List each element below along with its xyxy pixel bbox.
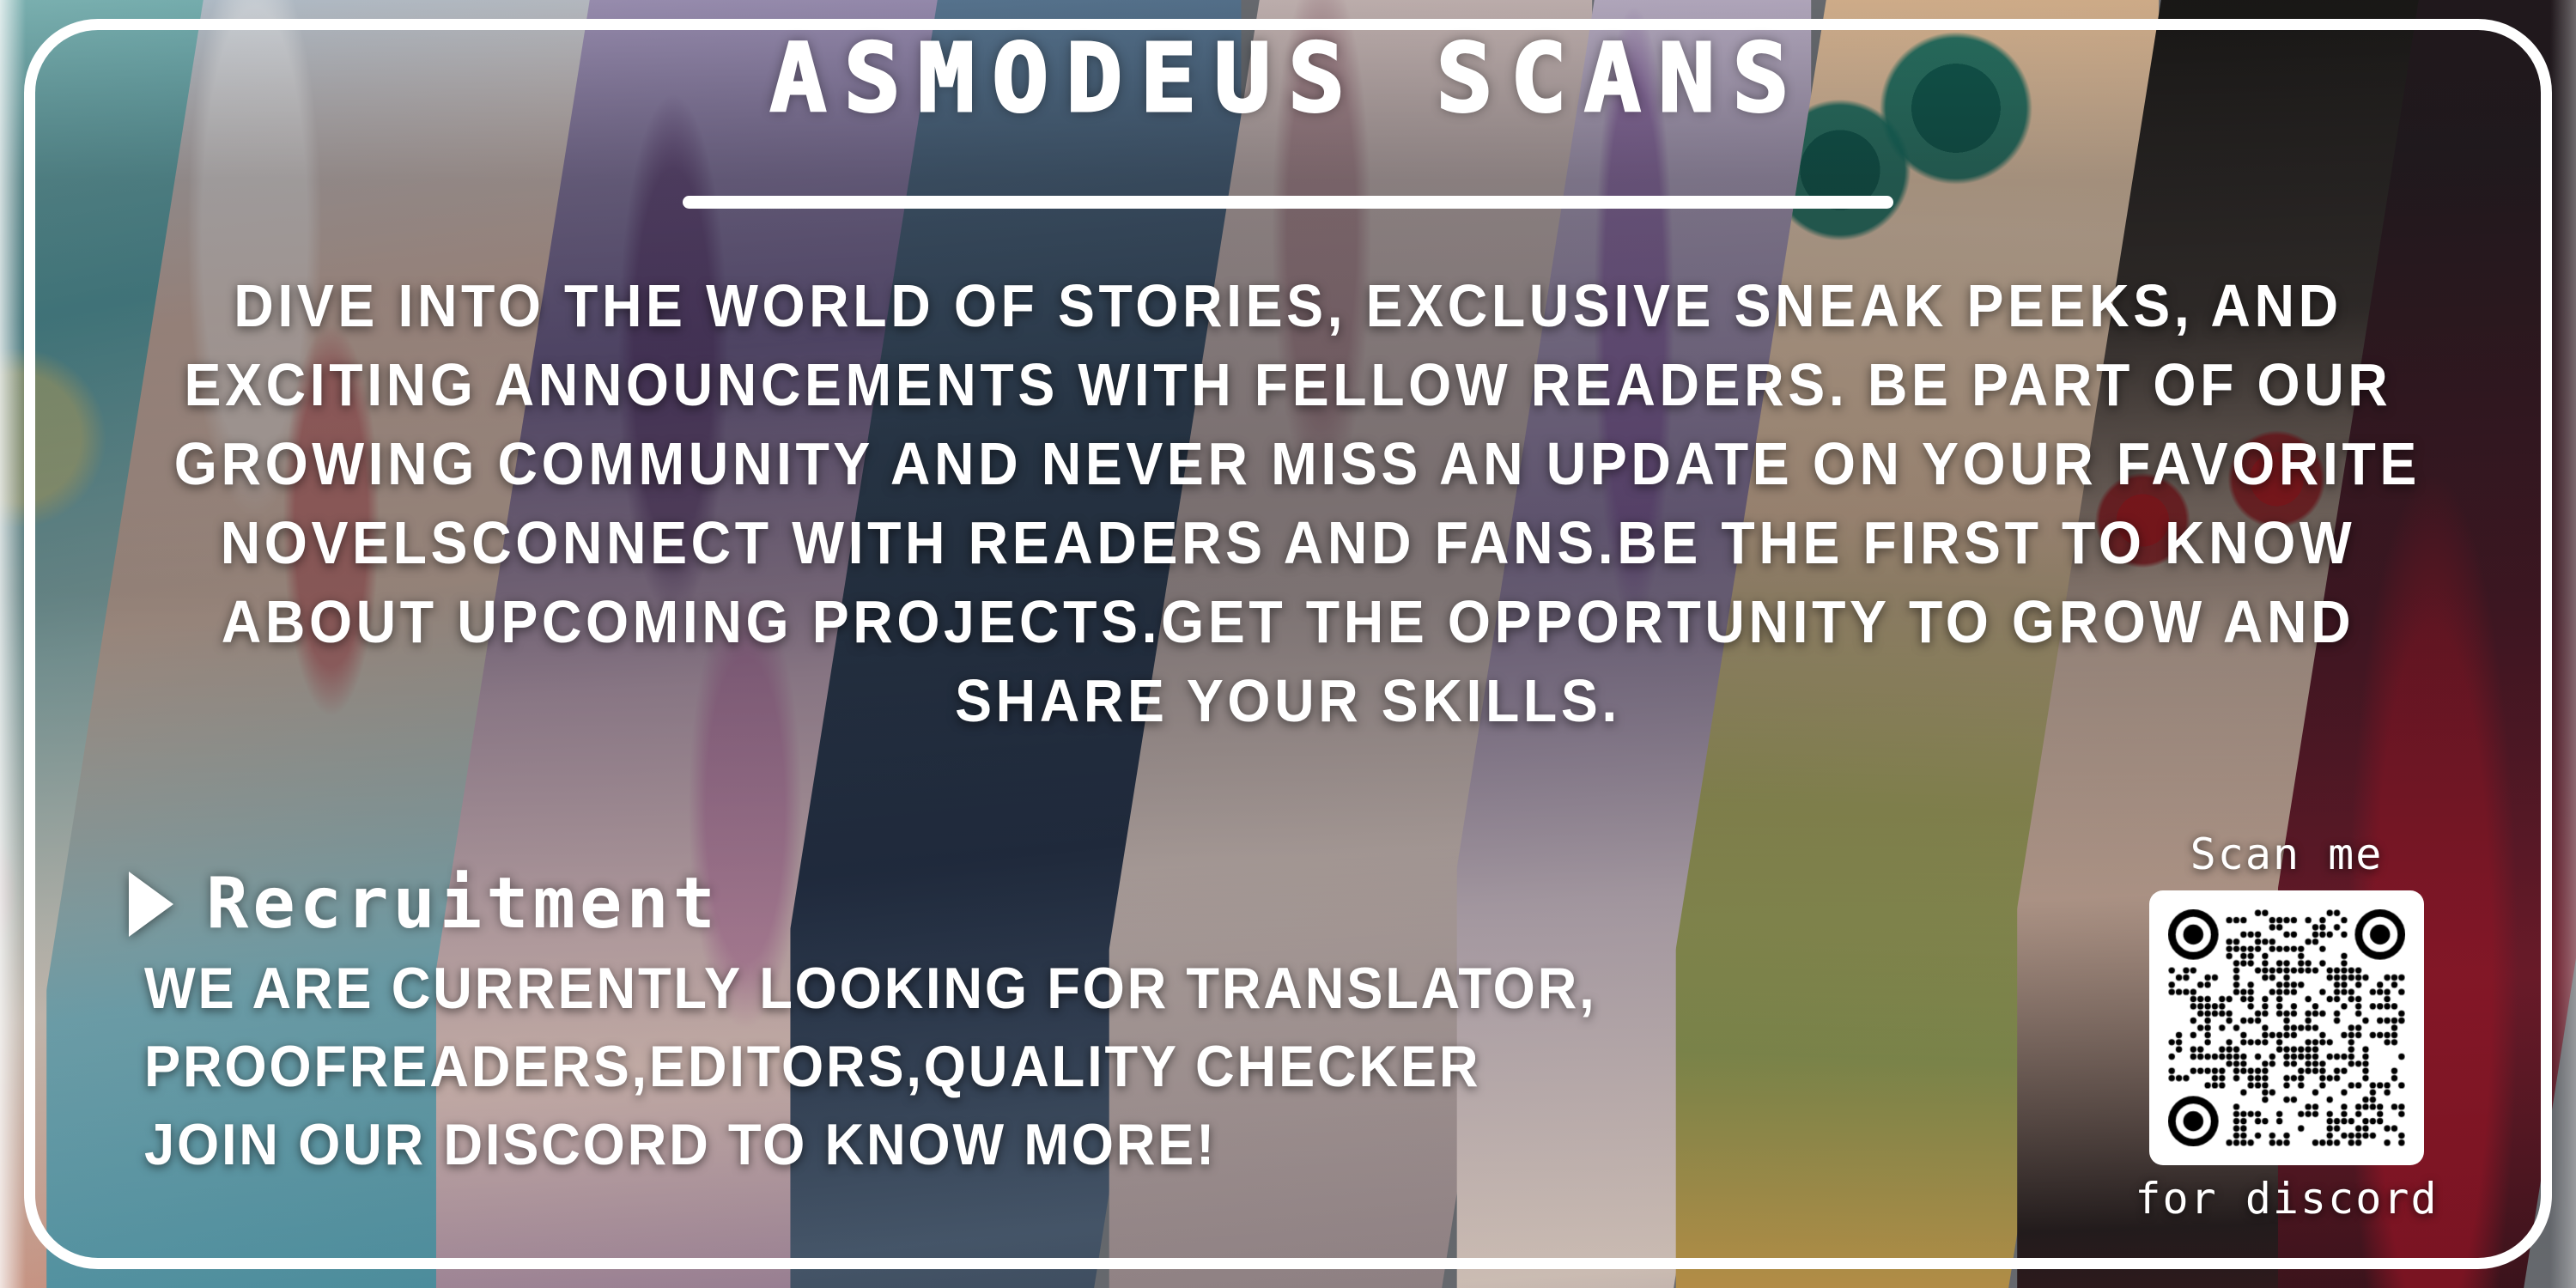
blurb-line: ABOUT UPCOMING PROJECTS.GET THE OPPORTUN… <box>174 582 2402 661</box>
asmodeus-scans-banner: ASMODEUS SCANS DIVE INTO THE WORLD OF ST… <box>0 0 2576 1288</box>
blurb-line: EXCITING ANNOUNCEMENTS WITH FELLOW READE… <box>174 345 2402 424</box>
recruitment-line: JOIN OUR DISCORD TO KNOW MORE! <box>144 1106 1871 1184</box>
recruitment-body: WE ARE CURRENTLY LOOKING FOR TRANSLATOR,… <box>144 950 1871 1184</box>
qr-caption-bottom: for discord <box>2102 1176 2471 1223</box>
banner-blurb: DIVE INTO THE WORLD OF STORIES, EXCLUSIV… <box>174 266 2402 740</box>
blurb-line: DIVE INTO THE WORLD OF STORIES, EXCLUSIV… <box>174 266 2402 345</box>
recruitment-header: Recruitment <box>129 869 2001 939</box>
recruitment-heading: Recruitment <box>206 869 720 939</box>
blurb-line: NOVELSCONNECT WITH READERS AND FANS.BE T… <box>174 503 2402 582</box>
play-triangle-icon <box>129 872 173 937</box>
blurb-line: GROWING COMMUNITY AND NEVER MISS AN UPDA… <box>174 424 2402 503</box>
title-underline-rule <box>683 196 1893 209</box>
recruitment-line: PROOFREADERS,EDITORS,QUALITY CHECKER <box>144 1028 1871 1106</box>
qr-caption-top: Scan me <box>2102 831 2471 878</box>
recruitment-line: WE ARE CURRENTLY LOOKING FOR TRANSLATOR, <box>144 950 1871 1028</box>
recruitment-section: Recruitment WE ARE CURRENTLY LOOKING FOR… <box>129 869 2001 1184</box>
banner-title: ASMODEUS SCANS <box>0 29 2576 129</box>
discord-qr-block[interactable]: Scan me for discord <box>2102 831 2471 1223</box>
blurb-line: SHARE YOUR SKILLS. <box>174 661 2402 740</box>
qr-code-modules <box>2168 909 2405 1146</box>
qr-code-icon[interactable] <box>2149 890 2424 1165</box>
